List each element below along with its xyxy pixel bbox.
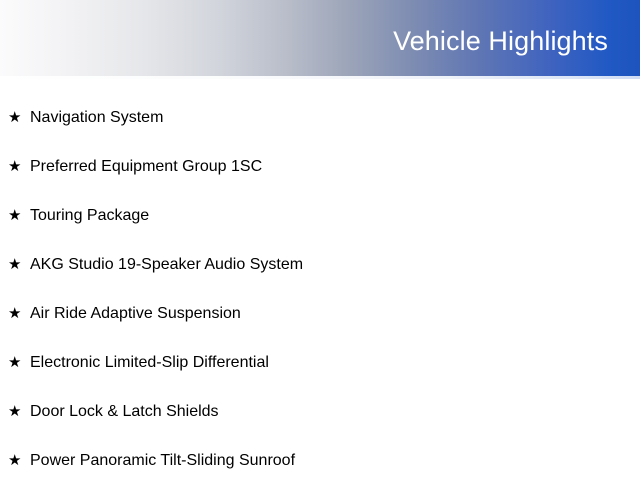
- header-band: Vehicle Highlights: [0, 0, 640, 76]
- list-item: ★ Door Lock & Latch Shields: [0, 387, 640, 436]
- highlight-label: Door Lock & Latch Shields: [30, 402, 219, 421]
- highlight-label: Navigation System: [30, 108, 163, 127]
- list-item: ★ Electronic Limited-Slip Differential: [0, 338, 640, 387]
- star-icon: ★: [8, 453, 30, 468]
- star-icon: ★: [8, 306, 30, 321]
- vehicle-highlights-slide: Vehicle Highlights ★ Navigation System ★…: [0, 0, 640, 480]
- vehicle-highlights-list: ★ Navigation System ★ Preferred Equipmen…: [0, 93, 640, 485]
- list-item: ★ Power Panoramic Tilt-Sliding Sunroof: [0, 436, 640, 485]
- star-icon: ★: [8, 110, 30, 125]
- star-icon: ★: [8, 208, 30, 223]
- star-icon: ★: [8, 404, 30, 419]
- highlight-label: Electronic Limited-Slip Differential: [30, 353, 269, 372]
- page-title: Vehicle Highlights: [393, 26, 608, 56]
- star-icon: ★: [8, 257, 30, 272]
- list-item: ★ Preferred Equipment Group 1SC: [0, 142, 640, 191]
- list-item: ★ Touring Package: [0, 191, 640, 240]
- highlight-label: Preferred Equipment Group 1SC: [30, 157, 262, 176]
- star-icon: ★: [8, 159, 30, 174]
- highlight-label: Touring Package: [30, 206, 149, 225]
- highlight-label: AKG Studio 19-Speaker Audio System: [30, 255, 303, 274]
- list-item: ★ Air Ride Adaptive Suspension: [0, 289, 640, 338]
- list-item: ★ AKG Studio 19-Speaker Audio System: [0, 240, 640, 289]
- star-icon: ★: [8, 355, 30, 370]
- list-item: ★ Navigation System: [0, 93, 640, 142]
- highlight-label: Power Panoramic Tilt-Sliding Sunroof: [30, 451, 295, 470]
- highlight-label: Air Ride Adaptive Suspension: [30, 304, 241, 323]
- header-underline-divider: [0, 76, 640, 79]
